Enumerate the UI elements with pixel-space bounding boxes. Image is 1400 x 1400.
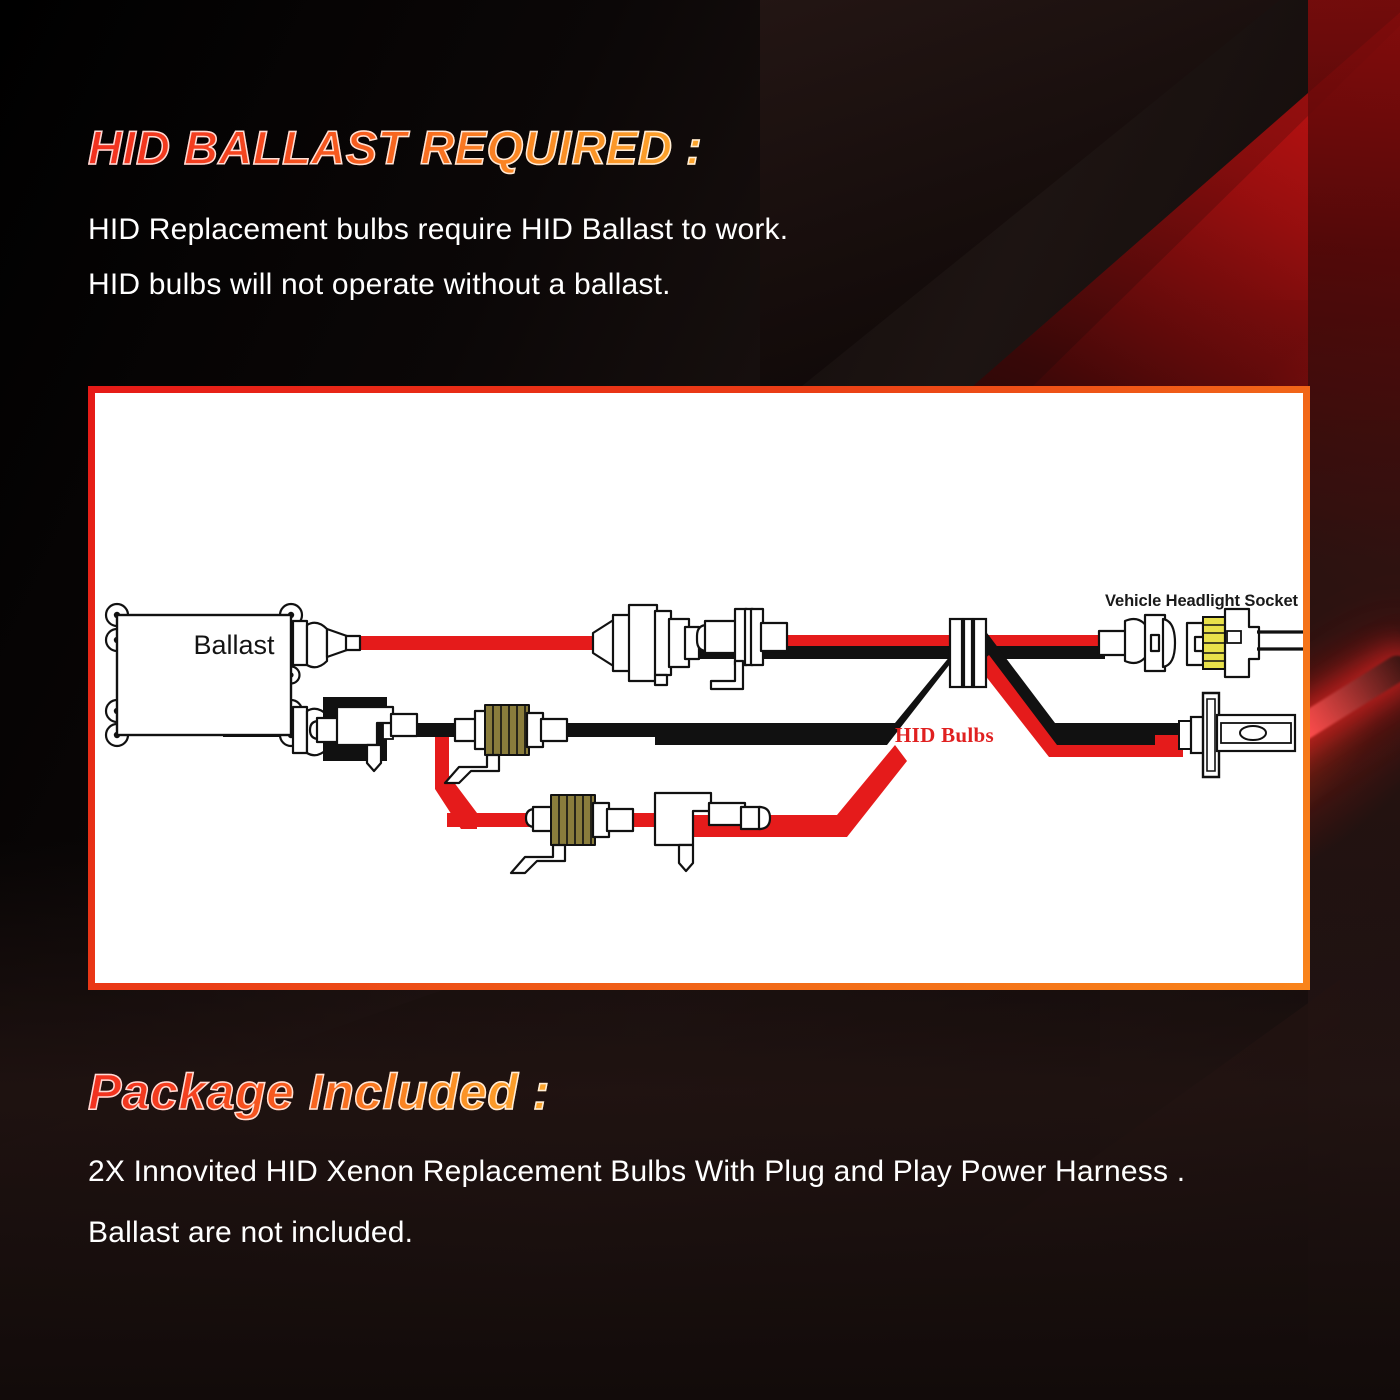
ballast-label: Ballast <box>144 630 324 661</box>
amp-connector-male <box>593 605 699 685</box>
hid-bulb <box>1155 693 1295 777</box>
package-line-2: Ballast are not included. <box>88 1216 413 1250</box>
vehicle-headlight-socket <box>1187 609 1303 677</box>
wire-splitter-sleeve <box>950 619 986 687</box>
requirement-line-1: HID Replacement bulbs require HID Ballas… <box>88 213 788 247</box>
harness-plug-male <box>1099 615 1175 671</box>
connector-boot-red <box>551 795 595 845</box>
bullet-connector-black-male <box>445 705 567 783</box>
package-line-1: 2X Innovited HID Xenon Replacement Bulbs… <box>88 1155 1185 1189</box>
package-heading: Package Included : <box>88 1063 550 1121</box>
amp-connector-female <box>697 609 787 689</box>
bullet-connector-red-male <box>511 795 633 873</box>
page-content: HID BALLAST REQUIRED : HID Replacement b… <box>0 0 1400 1400</box>
requirement-line-2: HID bulbs will not operate without a bal… <box>88 268 671 302</box>
requirement-heading: HID BALLAST REQUIRED : <box>88 120 702 175</box>
hid-bulbs-label: HID Bulbs <box>895 723 994 748</box>
connector-boot-black <box>485 705 529 755</box>
ballast-box <box>106 604 302 746</box>
wiring-diagram-illustration <box>95 393 1303 983</box>
wiring-diagram-panel: Vehicle Headlight Socket HID Bulbs Balla… <box>88 386 1310 990</box>
vehicle-headlight-socket-label: Vehicle Headlight Socket <box>1105 592 1298 611</box>
